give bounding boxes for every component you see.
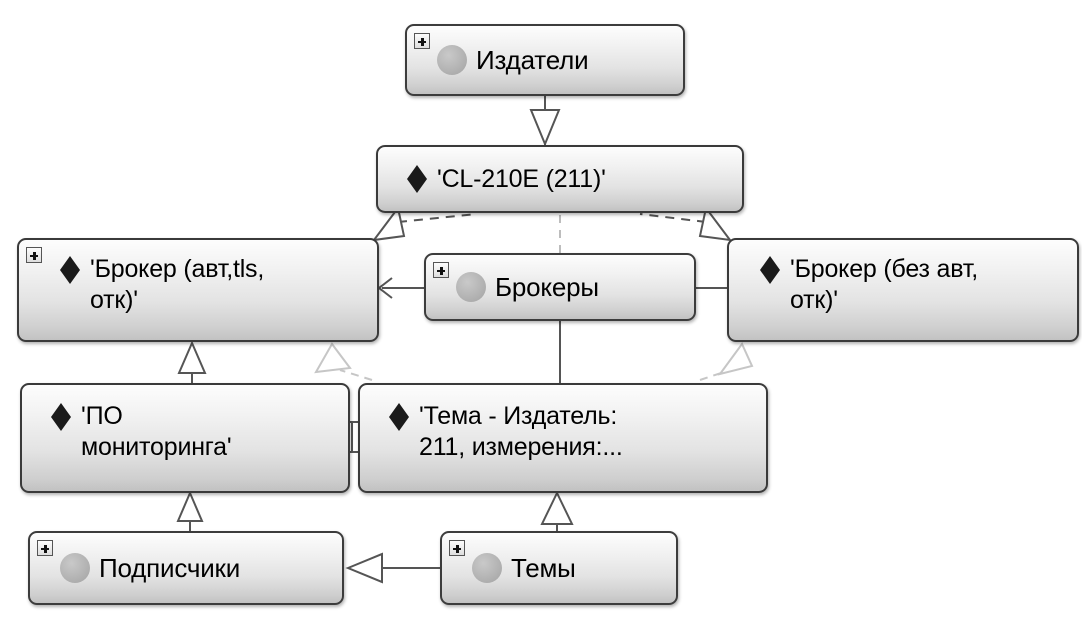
edge-monitoring-to-broker-auth — [179, 343, 205, 383]
node-label: Темы — [511, 553, 668, 584]
edge-monitoring-to-topic-publisher — [350, 422, 358, 452]
expander-plus-icon[interactable] — [37, 540, 53, 556]
black-diamond-icon — [406, 164, 428, 194]
edge-topics-to-topic-publisher — [542, 493, 572, 531]
expander-plus-icon[interactable] — [433, 262, 449, 278]
expander-plus-icon[interactable] — [449, 540, 465, 556]
node-label: Брокеры — [495, 272, 686, 303]
node-broker-auth[interactable]: 'Брокер (авт,tls, отк)' — [17, 238, 379, 342]
node-publishers[interactable]: Издатели — [405, 24, 685, 96]
edge-topic-publisher-to-broker-auth — [316, 344, 372, 380]
expander-plus-icon[interactable] — [26, 247, 42, 263]
black-diamond-icon — [759, 255, 781, 285]
package-circle-icon — [60, 553, 90, 583]
node-subscribers[interactable]: Подписчики — [28, 531, 344, 605]
node-topics[interactable]: Темы — [440, 531, 678, 605]
black-diamond-icon — [388, 402, 410, 432]
black-diamond-icon — [59, 255, 81, 285]
node-label: Издатели — [476, 45, 675, 76]
edge-topic-publisher-to-broker-noauth — [700, 344, 752, 380]
package-circle-icon — [472, 553, 502, 583]
node-label: 'Брокер (авт,tls, отк)' — [90, 254, 369, 316]
edge-subscribers-to-monitoring — [178, 493, 202, 531]
node-monitoring-sw[interactable]: 'ПО мониторинга' — [20, 383, 350, 493]
node-brokers[interactable]: Брокеры — [424, 253, 696, 321]
package-circle-icon — [437, 45, 467, 75]
package-circle-icon — [456, 272, 486, 302]
node-label: 'CL-210E (211)' — [437, 164, 734, 195]
node-broker-noauth[interactable]: 'Брокер (без авт, отк)' — [727, 238, 1079, 342]
node-cl210e[interactable]: 'CL-210E (211)' — [376, 145, 744, 213]
node-topic-publisher[interactable]: 'Тема - Издатель: 211, измерения:... — [358, 383, 768, 493]
node-label: 'ПО мониторинга' — [81, 401, 340, 463]
expander-plus-icon[interactable] — [414, 33, 430, 49]
node-label: Подписчики — [99, 553, 334, 584]
black-diamond-icon — [50, 402, 72, 432]
edge-publishers-to-cl210e — [531, 96, 559, 145]
edge-topics-to-subscribers — [348, 554, 440, 582]
node-label: 'Тема - Издатель: 211, измерения:... — [419, 401, 758, 463]
uml-diagram-canvas: Издатели 'CL-210E (211)' 'Брокер (авт,tl… — [0, 0, 1082, 635]
node-label: 'Брокер (без авт, отк)' — [790, 254, 1069, 316]
edge-brokers-to-broker-auth — [379, 278, 424, 298]
